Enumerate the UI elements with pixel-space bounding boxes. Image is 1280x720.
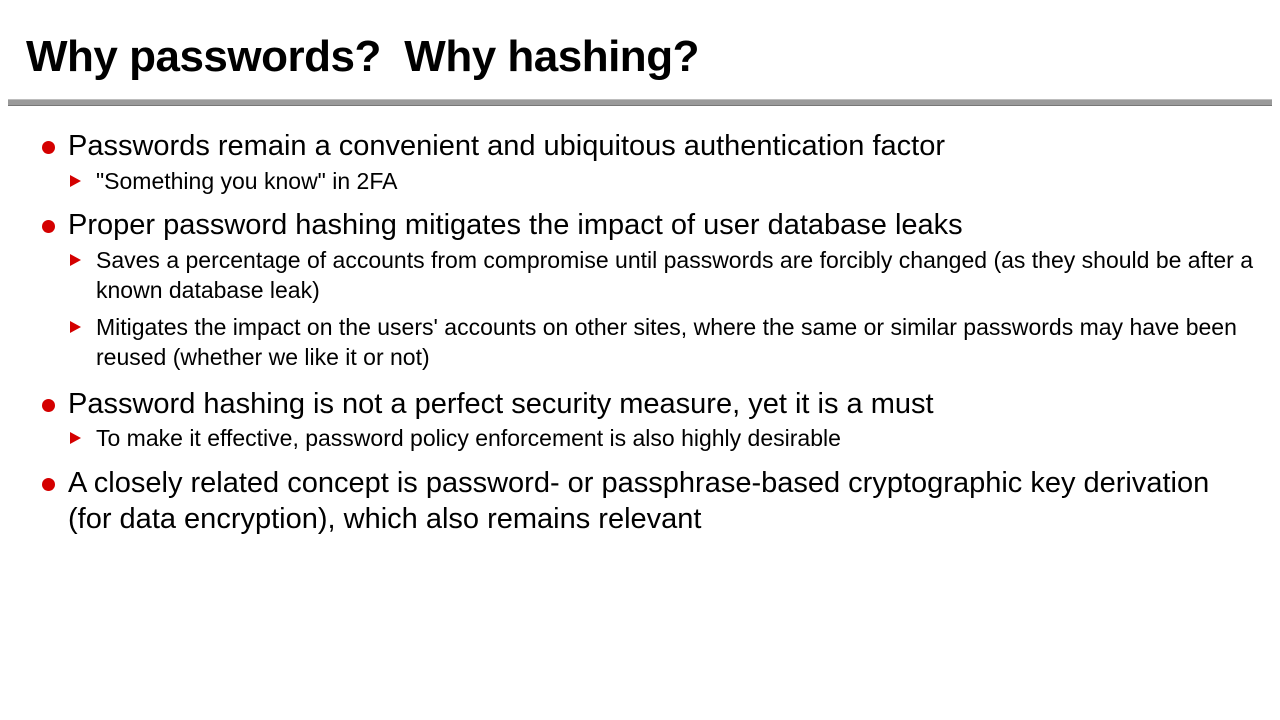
sub-bullet-text: To make it effective, password policy en… xyxy=(96,424,1260,454)
sub-bullet-item: Mitigates the impact on the users' accou… xyxy=(30,313,1260,373)
bullet-text: Password hashing is not a perfect securi… xyxy=(68,386,1260,423)
spacer xyxy=(30,455,1260,465)
bullet-triangle-icon xyxy=(70,175,81,187)
slide-body: Passwords remain a convenient and ubiqui… xyxy=(30,128,1260,540)
sub-bullet-text: Mitigates the impact on the users' accou… xyxy=(96,313,1260,373)
sub-bullet-text: "Something you know" in 2FA xyxy=(96,167,1260,197)
bullet-item: Passwords remain a convenient and ubiqui… xyxy=(30,128,1260,165)
sub-bullet-item: Saves a percentage of accounts from comp… xyxy=(30,246,1260,306)
sub-bullet-item: To make it effective, password policy en… xyxy=(30,424,1260,454)
bullet-item: Password hashing is not a perfect securi… xyxy=(30,386,1260,423)
bullet-text: A closely related concept is password- o… xyxy=(68,465,1260,538)
spacer xyxy=(30,374,1260,386)
bullet-triangle-icon xyxy=(70,254,81,266)
bullet-triangle-icon xyxy=(70,432,81,444)
bullet-dot-icon xyxy=(42,399,55,412)
bullet-dot-icon xyxy=(42,478,55,491)
bullet-text: Passwords remain a convenient and ubiqui… xyxy=(68,128,1260,165)
slide: Why passwords? Why hashing? Passwords re… xyxy=(0,0,1280,720)
title-divider xyxy=(8,99,1272,106)
bullet-item: Proper password hashing mitigates the im… xyxy=(30,207,1260,244)
bullet-item: A closely related concept is password- o… xyxy=(30,465,1260,538)
bullet-text: Proper password hashing mitigates the im… xyxy=(68,207,1260,244)
spacer xyxy=(30,197,1260,207)
sub-bullet-text: Saves a percentage of accounts from comp… xyxy=(96,246,1260,306)
bullet-dot-icon xyxy=(42,220,55,233)
bullet-dot-icon xyxy=(42,141,55,154)
bullet-triangle-icon xyxy=(70,321,81,333)
sub-bullet-item: "Something you know" in 2FA xyxy=(30,167,1260,197)
slide-title: Why passwords? Why hashing? xyxy=(26,34,699,80)
